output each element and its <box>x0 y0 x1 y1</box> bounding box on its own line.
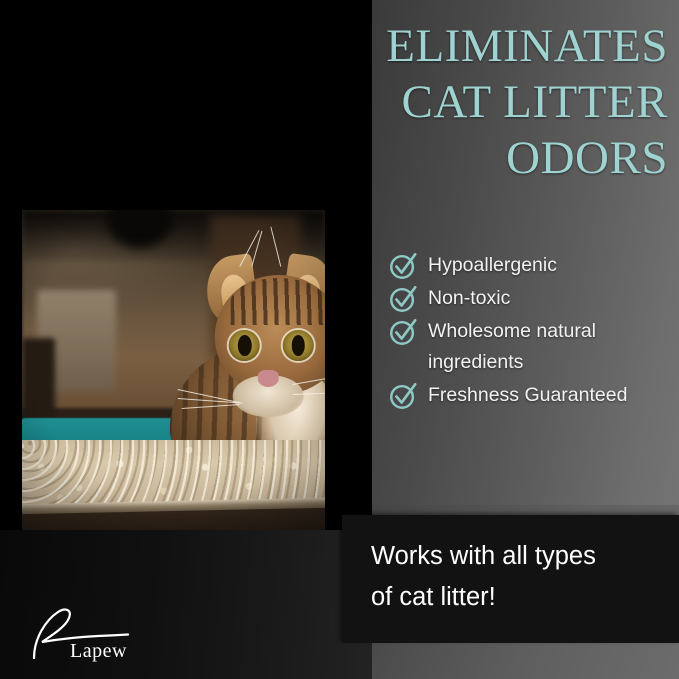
feature-label: Hypoallergenic <box>428 250 557 281</box>
check-circle-icon <box>388 381 418 411</box>
room-blur-object-dark <box>22 338 55 421</box>
brand-logo: Lapew <box>28 602 148 664</box>
photo-scene <box>22 210 325 530</box>
logo-wordmark: Lapew <box>70 640 127 663</box>
headline-line-1: ELIMINATES <box>300 18 668 74</box>
cat-litter-texture <box>22 440 325 507</box>
kitten-litter-box-photo <box>22 210 325 530</box>
check-circle-icon <box>388 251 418 281</box>
feature-item: Non-toxic <box>388 283 673 314</box>
feature-item: Hypoallergenic <box>388 250 673 281</box>
tagline-line-2: of cat litter! <box>371 577 661 618</box>
kitten-eye-left <box>229 330 260 361</box>
tagline-line-1: Works with all types <box>371 536 661 577</box>
feature-item: Wholesome natural ingredients <box>388 316 673 378</box>
kitten-head-stripes <box>231 278 325 325</box>
kitten-pupil-left <box>238 335 252 356</box>
headline-line-3: ODORS <box>300 130 668 186</box>
tagline-text: Works with all types of cat litter! <box>371 536 661 618</box>
headline: ELIMINATES CAT LITTER ODORS <box>300 18 668 186</box>
product-poster: ELIMINATES CAT LITTER ODORS Hypoallergen… <box>0 0 679 679</box>
feature-list: Hypoallergenic Non-toxic Wholesome natur… <box>388 250 673 413</box>
feature-item: Freshness Guaranteed <box>388 380 673 411</box>
check-circle-icon <box>388 317 418 347</box>
kitten-nose <box>258 370 279 387</box>
kitten-pupil-right <box>291 335 305 356</box>
feature-label: Wholesome natural ingredients <box>428 316 673 378</box>
tagline-box: Works with all types of cat litter! <box>342 515 679 643</box>
check-circle-icon <box>388 284 418 314</box>
feature-label: Non-toxic <box>428 283 510 314</box>
feature-label: Freshness Guaranteed <box>428 380 627 411</box>
headline-line-2: CAT LITTER <box>300 74 668 130</box>
